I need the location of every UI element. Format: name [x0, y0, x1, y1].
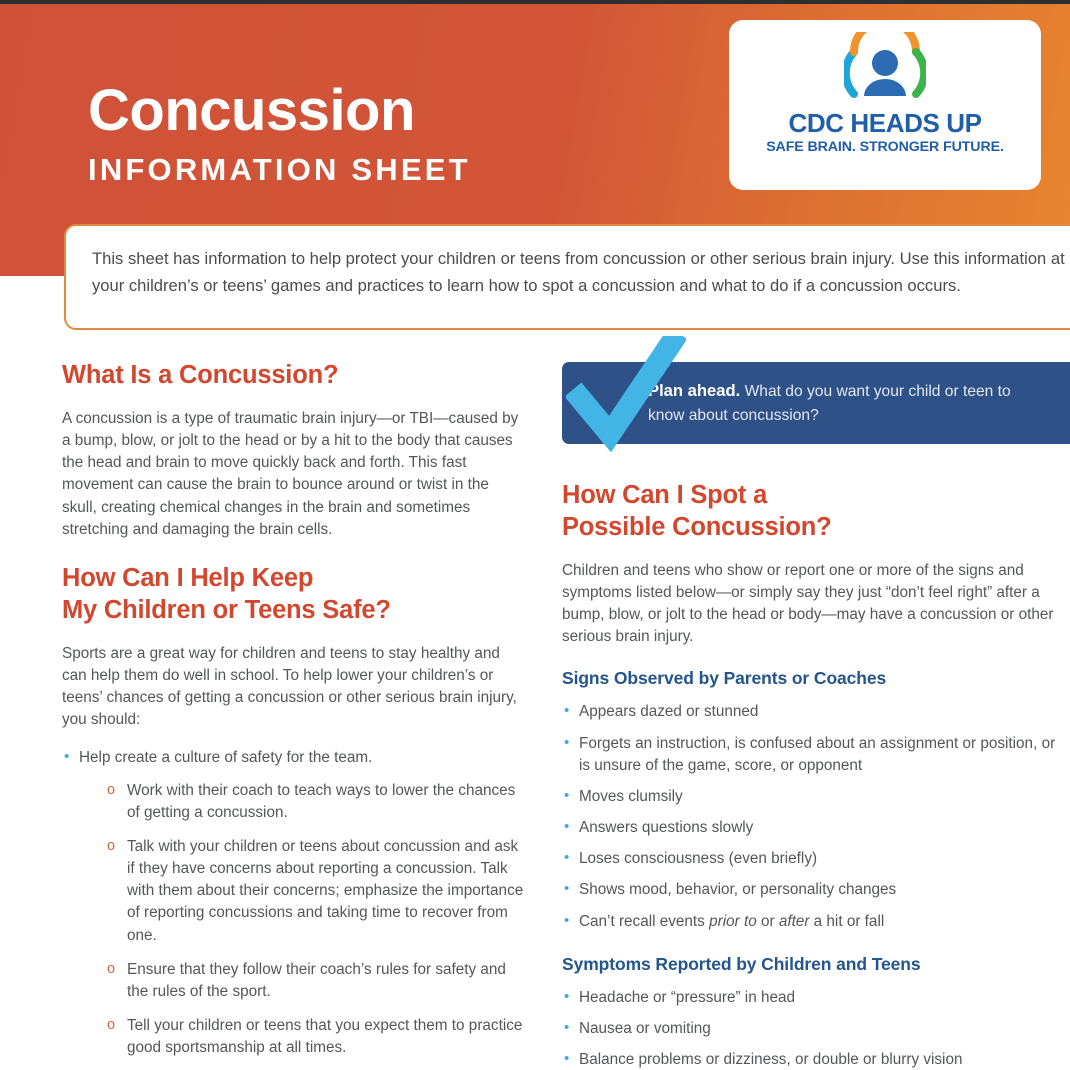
bullet-text: Help create a culture of safety for the …	[79, 749, 372, 766]
heading-line-1: How Can I Help Keep	[62, 564, 313, 592]
heading-line-2: Possible Concussion?	[562, 513, 831, 541]
list-item: Work with their coach to teach ways to l…	[107, 780, 524, 824]
safety-bullet-list: Help create a culture of safety for the …	[62, 747, 524, 1070]
left-column: What Is a Concussion? A concussion is a …	[62, 360, 524, 1070]
list-item: Moves clumsily	[562, 786, 1070, 808]
heading-line-2: My Children or Teens Safe?	[62, 596, 391, 624]
right-column: How Can I Spot a Possible Concussion? Ch…	[562, 480, 1070, 1070]
heading-line-1: How Can I Spot a	[562, 481, 767, 509]
heading-how-can-i-help-keep-safe: How Can I Help Keep My Children or Teens…	[62, 563, 524, 627]
header-title-group: Concussion INFORMATION SHEET	[88, 82, 471, 188]
emphasis-text: after	[779, 913, 810, 930]
subheading-symptoms-reported: Symptoms Reported by Children and Teens	[562, 954, 1070, 975]
concussion-information-sheet: Concussion INFORMATION SHEET CDC HEADS U…	[0, 0, 1070, 1070]
page-title: Concussion	[88, 82, 471, 140]
paragraph-how-can-i-spot: Children and teens who show or report on…	[562, 560, 1070, 649]
plan-ahead-label: Plan ahead.	[648, 381, 740, 400]
list-item: Forgets an instruction, is confused abou…	[562, 733, 1070, 777]
list-item: Nausea or vomiting	[562, 1018, 1070, 1040]
list-item: Appears dazed or stunned	[562, 701, 1070, 723]
intro-text: This sheet has information to help prote…	[92, 246, 1070, 300]
emphasis-text: prior to	[709, 913, 757, 930]
paragraph-help-keep-safe: Sports are a great way for children and …	[62, 643, 524, 732]
signs-bullet-list: Appears dazed or stunned Forgets an inst…	[562, 701, 1070, 932]
list-item: Can’t recall events prior to or after a …	[562, 911, 1070, 933]
symptoms-bullet-list: Headache or “pressure” in head Nausea or…	[562, 987, 1070, 1070]
list-item: Balance problems or dizziness, or double…	[562, 1049, 1070, 1070]
list-item: Help create a culture of safety for the …	[62, 747, 524, 1059]
list-item: Shows mood, behavior, or personality cha…	[562, 879, 1070, 901]
list-item: Answers questions slowly	[562, 817, 1070, 839]
subheading-signs-observed: Signs Observed by Parents or Coaches	[562, 668, 1070, 689]
list-item: Tell your children or teens that you exp…	[107, 1015, 524, 1059]
list-item: Talk with your children or teens about c…	[107, 836, 524, 947]
list-item: Headache or “pressure” in head	[562, 987, 1070, 1009]
intro-callout-box: This sheet has information to help prote…	[64, 224, 1070, 330]
heading-how-can-i-spot: How Can I Spot a Possible Concussion?	[562, 480, 1070, 544]
cdc-heads-up-person-arc-logo	[844, 32, 926, 104]
list-item: Loses consciousness (even briefly)	[562, 848, 1070, 870]
logo-title: CDC HEADS UP	[729, 108, 1041, 139]
logo-tagline: SAFE BRAIN. STRONGER FUTURE.	[729, 139, 1041, 155]
plan-ahead-callout: Plan ahead. What do you want your child …	[562, 362, 1070, 444]
safety-sub-bullet-list: Work with their coach to teach ways to l…	[107, 780, 524, 1060]
heading-what-is-a-concussion: What Is a Concussion?	[62, 360, 524, 392]
page-subtitle: INFORMATION SHEET	[88, 152, 471, 188]
plan-ahead-text: Plan ahead. What do you want your child …	[648, 379, 1048, 427]
paragraph-what-is-a-concussion: A concussion is a type of traumatic brai…	[62, 408, 524, 541]
list-item: Ensure that they follow their coach’s ru…	[107, 959, 524, 1003]
cdc-heads-up-logo-card: CDC HEADS UP SAFE BRAIN. STRONGER FUTURE…	[729, 20, 1041, 190]
